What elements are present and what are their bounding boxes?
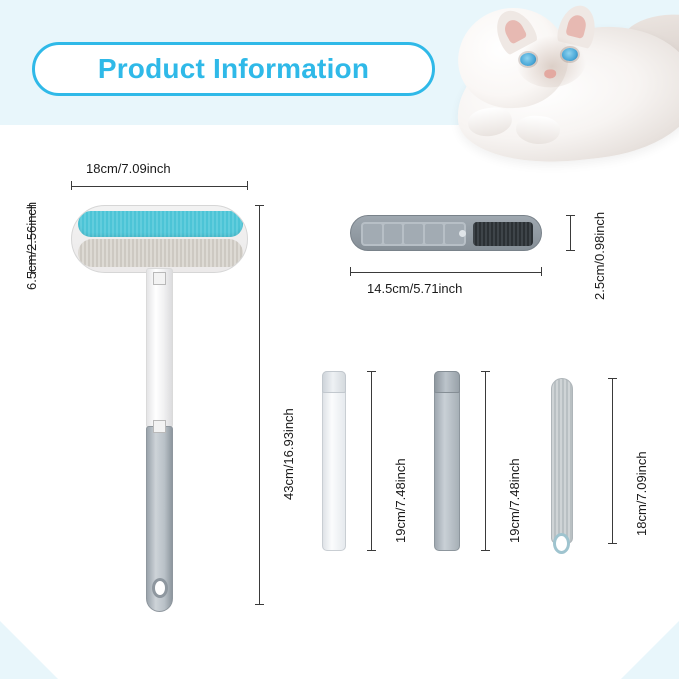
brush-head-width-tick-right <box>247 181 248 190</box>
brush-hang-hole <box>152 578 168 598</box>
brush-handle-upper <box>146 268 173 428</box>
handle-white-length-tick-bottom <box>367 550 376 551</box>
lint-brush-length-tick-top <box>608 378 617 379</box>
handle-grey-length-label: 19cm/7.48inch <box>507 458 522 543</box>
refill-width-line <box>570 215 571 251</box>
brush-clip-upper <box>153 272 166 285</box>
handle-grey-cap <box>434 371 460 393</box>
refill-length-label: 14.5cm/5.71inch <box>367 281 462 296</box>
handle-white-illustration <box>322 371 346 551</box>
cat-ear-inner-right <box>565 13 588 39</box>
brush-total-length-line <box>259 205 260 605</box>
handle-grey-illustration <box>434 371 460 551</box>
refill-length-line <box>350 272 542 273</box>
refill-width-label: 2.5cm/0.98inch <box>592 212 607 300</box>
corner-decoration-left <box>0 621 58 679</box>
lint-brush-length-line <box>612 378 613 544</box>
brush-clip-lower <box>153 420 166 433</box>
brush-head-width-line <box>71 186 248 187</box>
brush-pad-teal <box>78 211 243 237</box>
brush-total-length-tick-top <box>255 205 264 206</box>
brush-head-height-label: 6.5cm/2.56inch <box>24 202 39 290</box>
brush-pad-grey <box>78 239 243 267</box>
refill-length-tick-left <box>350 267 351 276</box>
cat-photo <box>420 0 679 200</box>
brush-total-length-label: 43cm/16.93inch <box>281 408 296 500</box>
refill-length-tick-right <box>541 267 542 276</box>
refill-tray-cell <box>404 224 423 244</box>
refill-tray-cell <box>425 224 444 244</box>
lint-brush-length-label: 18cm/7.09inch <box>634 451 649 536</box>
refill-tray-cell <box>363 224 382 244</box>
cat-ear-inner-left <box>501 17 527 45</box>
handle-white-cap <box>322 371 346 393</box>
lint-brush-length-tick-bottom <box>608 543 617 544</box>
handle-grey-length-tick-top <box>481 371 490 372</box>
refill-tray-cell <box>384 224 403 244</box>
brush-head-width-label: 18cm/7.09inch <box>86 161 171 176</box>
brush-total-length-tick-bottom <box>255 604 264 605</box>
refill-width-tick-bottom <box>566 250 575 251</box>
refill-bristle-section <box>473 222 533 246</box>
lint-brush-illustration <box>551 378 573 544</box>
handle-grey-length-line <box>485 371 486 551</box>
product-information-page: Product Information 18cm/7.09in <box>0 0 679 679</box>
corner-decoration-right <box>621 621 679 679</box>
refill-tray <box>361 222 466 246</box>
refill-knob <box>459 230 466 237</box>
handle-white-length-tick-top <box>367 371 376 372</box>
page-title-pill: Product Information <box>32 42 435 96</box>
lint-brush-hang-hole <box>553 533 570 554</box>
handle-white-length-label: 19cm/7.48inch <box>393 458 408 543</box>
handle-white-length-line <box>371 371 372 551</box>
page-title: Product Information <box>98 53 369 85</box>
handle-grey-length-tick-bottom <box>481 550 490 551</box>
refill-width-tick-top <box>566 215 575 216</box>
brush-head <box>71 205 248 273</box>
brush-head-width-tick-left <box>71 181 72 190</box>
refill-bar-illustration <box>350 215 542 251</box>
